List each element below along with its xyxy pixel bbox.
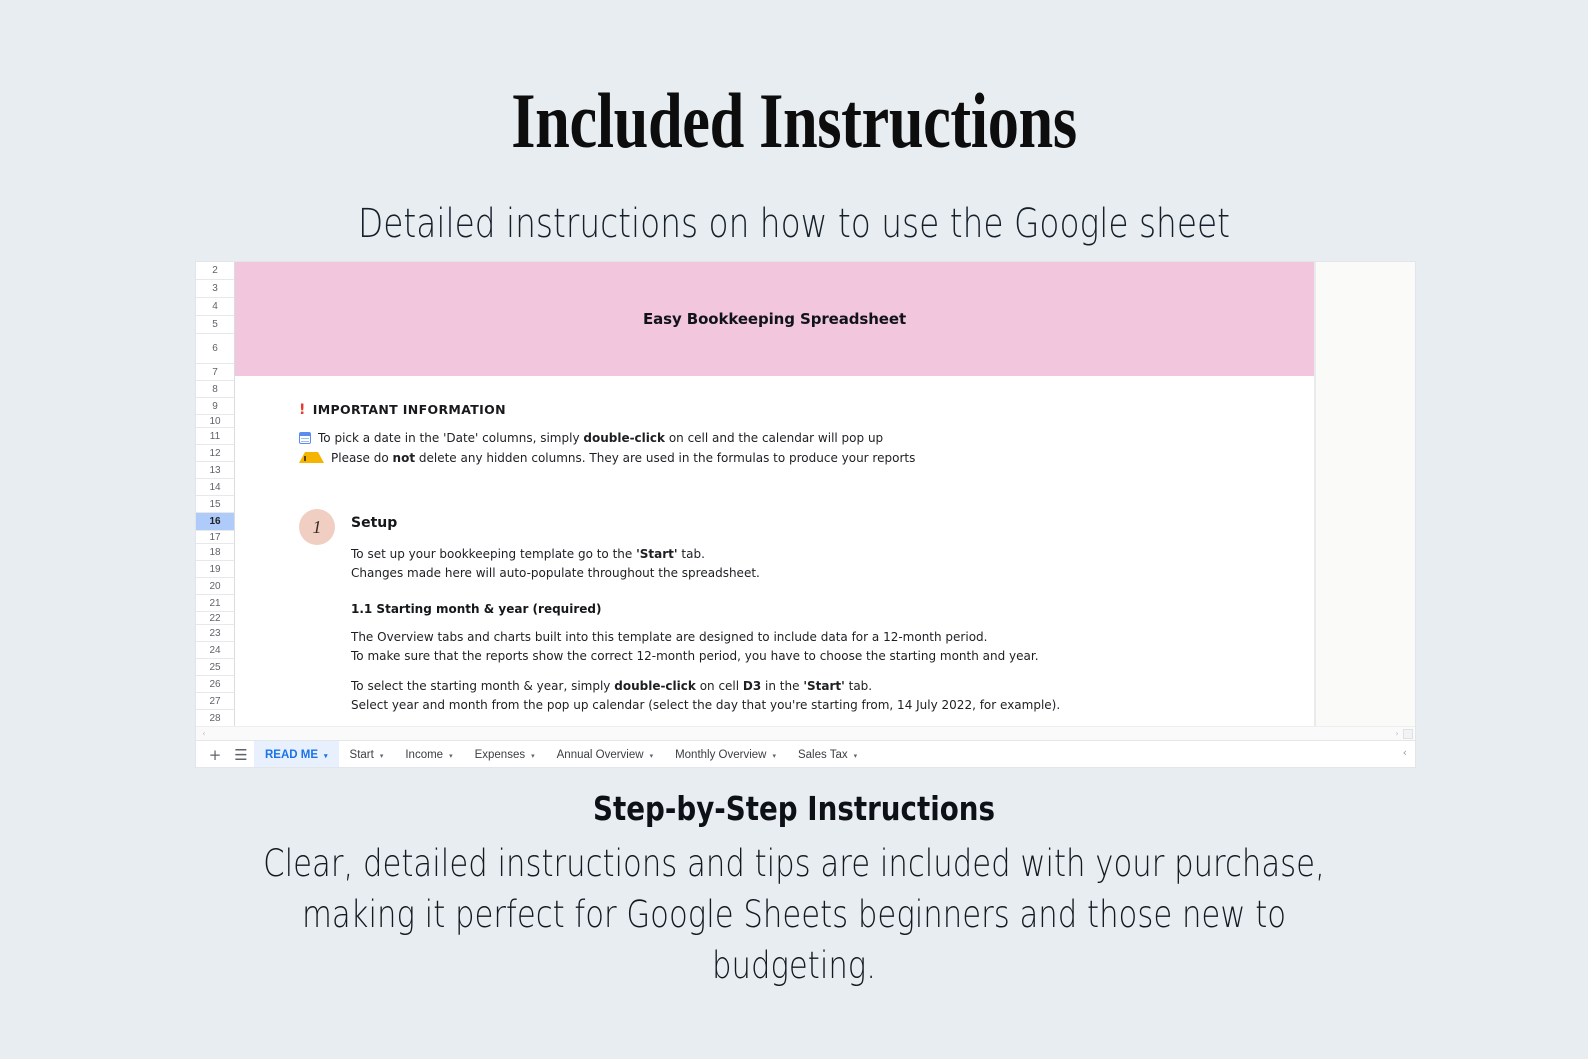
- info-line-date-text: To pick a date in the 'Date' columns, si…: [318, 429, 883, 447]
- row-header-gutter: 2345678910111213141516171819202122232425…: [196, 262, 235, 726]
- step-number-badge: 1: [299, 509, 335, 545]
- sheet-tab-label: Annual Overview: [557, 749, 644, 761]
- sheet-tab-start[interactable]: Start▾: [339, 741, 395, 767]
- calendar-icon: [299, 432, 311, 444]
- row-header-26[interactable]: 26: [196, 676, 234, 693]
- row-header-7[interactable]: 7: [196, 364, 234, 381]
- warning-icon: [299, 452, 324, 463]
- sheet-tab-monthly-overview[interactable]: Monthly Overview▾: [664, 741, 787, 767]
- row-header-4[interactable]: 4: [196, 298, 234, 316]
- row-header-8[interactable]: 8: [196, 381, 234, 398]
- chevron-down-icon[interactable]: ▾: [380, 752, 384, 760]
- row-header-18[interactable]: 18: [196, 544, 234, 561]
- row-header-3[interactable]: 3: [196, 280, 234, 298]
- sheet-tab-read-me[interactable]: READ ME▾: [254, 741, 339, 767]
- row-header-22[interactable]: 22: [196, 612, 234, 625]
- subsection-paragraph-1: The Overview tabs and charts built into …: [351, 628, 1279, 647]
- step-line-2: Changes made here will auto-populate thr…: [351, 564, 1279, 583]
- chevron-down-icon[interactable]: ▾: [854, 752, 858, 760]
- row-header-14[interactable]: 14: [196, 479, 234, 496]
- all-sheets-icon[interactable]: ☰: [228, 743, 254, 767]
- row-header-21[interactable]: 21: [196, 595, 234, 612]
- sheet-body-text: ! IMPORTANT INFORMATION To pick a date i…: [299, 402, 1279, 714]
- subsection-paragraph-4: Select year and month from the pop up ca…: [351, 696, 1279, 715]
- footer-heading: Step-by-Step Instructions: [127, 789, 1461, 828]
- row-header-10[interactable]: 10: [196, 415, 234, 428]
- row-header-24[interactable]: 24: [196, 642, 234, 659]
- subsection-paragraph-2: To make sure that the reports show the c…: [351, 647, 1279, 666]
- row-header-5[interactable]: 5: [196, 316, 234, 334]
- chevron-down-icon[interactable]: ▾: [449, 752, 453, 760]
- step-line-1: To set up your bookkeeping template go t…: [351, 545, 1279, 564]
- row-header-23[interactable]: 23: [196, 625, 234, 642]
- chevron-left-icon[interactable]: ‹: [1403, 746, 1407, 759]
- scroll-left-arrow-icon[interactable]: ‹: [200, 730, 208, 738]
- sheet-tab-label: READ ME: [265, 749, 318, 761]
- row-header-6[interactable]: 6: [196, 334, 234, 364]
- chevron-down-icon[interactable]: ▾: [650, 752, 654, 760]
- sheet-tab-label: Start: [350, 749, 374, 761]
- chevron-down-icon[interactable]: ▾: [772, 752, 776, 760]
- sheet-tab-label: Expenses: [475, 749, 526, 761]
- row-header-19[interactable]: 19: [196, 561, 234, 578]
- sheet-tab-annual-overview[interactable]: Annual Overview▾: [546, 741, 664, 767]
- spreadsheet-grid: 2345678910111213141516171819202122232425…: [196, 262, 1415, 726]
- row-header-17[interactable]: 17: [196, 531, 234, 544]
- row-header-27[interactable]: 27: [196, 693, 234, 710]
- spreadsheet-screenshot: 2345678910111213141516171819202122232425…: [196, 262, 1415, 767]
- sheet-tab-label: Income: [405, 749, 443, 761]
- row-header-13[interactable]: 13: [196, 462, 234, 479]
- chevron-down-icon[interactable]: ▾: [324, 752, 328, 760]
- row-header-25[interactable]: 25: [196, 659, 234, 676]
- row-header-20[interactable]: 20: [196, 578, 234, 595]
- sheet-tab-label: Monthly Overview: [675, 749, 766, 761]
- row-header-2[interactable]: 2: [196, 262, 234, 280]
- cell-area[interactable]: Easy Bookkeeping Spreadsheet ! IMPORTANT…: [235, 262, 1415, 726]
- row-header-28[interactable]: 28: [196, 710, 234, 727]
- scroll-corner-box: [1403, 729, 1413, 739]
- info-line-date: To pick a date in the 'Date' columns, si…: [299, 429, 1279, 447]
- important-heading: IMPORTANT INFORMATION: [313, 402, 506, 417]
- step-title: Setup: [351, 515, 1279, 531]
- sheet-tab-label: Sales Tax: [798, 749, 848, 761]
- chevron-down-icon[interactable]: ▾: [531, 752, 535, 760]
- banner-title: Easy Bookkeeping Spreadsheet: [235, 262, 1314, 376]
- exclamation-icon: !: [299, 403, 306, 417]
- footer-paragraph: Clear, detailed instructions and tips ar…: [235, 838, 1354, 991]
- sheet-tab-income[interactable]: Income▾: [394, 741, 463, 767]
- row-header-16[interactable]: 16: [196, 513, 234, 531]
- subsection-title: 1.1 Starting month & year (required): [351, 602, 1279, 616]
- paragraph-spacer: [351, 665, 1279, 677]
- sheet-tab-bar[interactable]: + ☰ READ ME▾Start▾Income▾Expenses▾Annual…: [196, 740, 1415, 767]
- right-empty-pane: [1316, 262, 1415, 726]
- info-line-hidden-columns: Please do not delete any hidden columns.…: [299, 449, 1279, 467]
- page-subtitle: Detailed instructions on how to use the …: [143, 204, 1445, 244]
- info-line-hidden-columns-text: Please do not delete any hidden columns.…: [331, 449, 915, 467]
- scroll-right-arrow-icon[interactable]: ›: [1393, 730, 1401, 738]
- row-header-11[interactable]: 11: [196, 428, 234, 445]
- horizontal-scrollbar[interactable]: ‹ ›: [196, 726, 1415, 741]
- page-title: Included Instructions: [159, 0, 1429, 160]
- sheet-tab-expenses[interactable]: Expenses▾: [464, 741, 546, 767]
- sheet-tab-sales-tax[interactable]: Sales Tax▾: [787, 741, 868, 767]
- plus-icon[interactable]: +: [202, 743, 228, 767]
- subsection-paragraph-3: To select the starting month & year, sim…: [351, 677, 1279, 696]
- important-heading-row: ! IMPORTANT INFORMATION: [299, 402, 1279, 417]
- row-header-9[interactable]: 9: [196, 398, 234, 415]
- step-1-block: 1 Setup To set up your bookkeeping templ…: [299, 515, 1279, 714]
- row-header-15[interactable]: 15: [196, 496, 234, 513]
- step-body: Setup To set up your bookkeeping templat…: [351, 515, 1279, 714]
- row-header-12[interactable]: 12: [196, 445, 234, 462]
